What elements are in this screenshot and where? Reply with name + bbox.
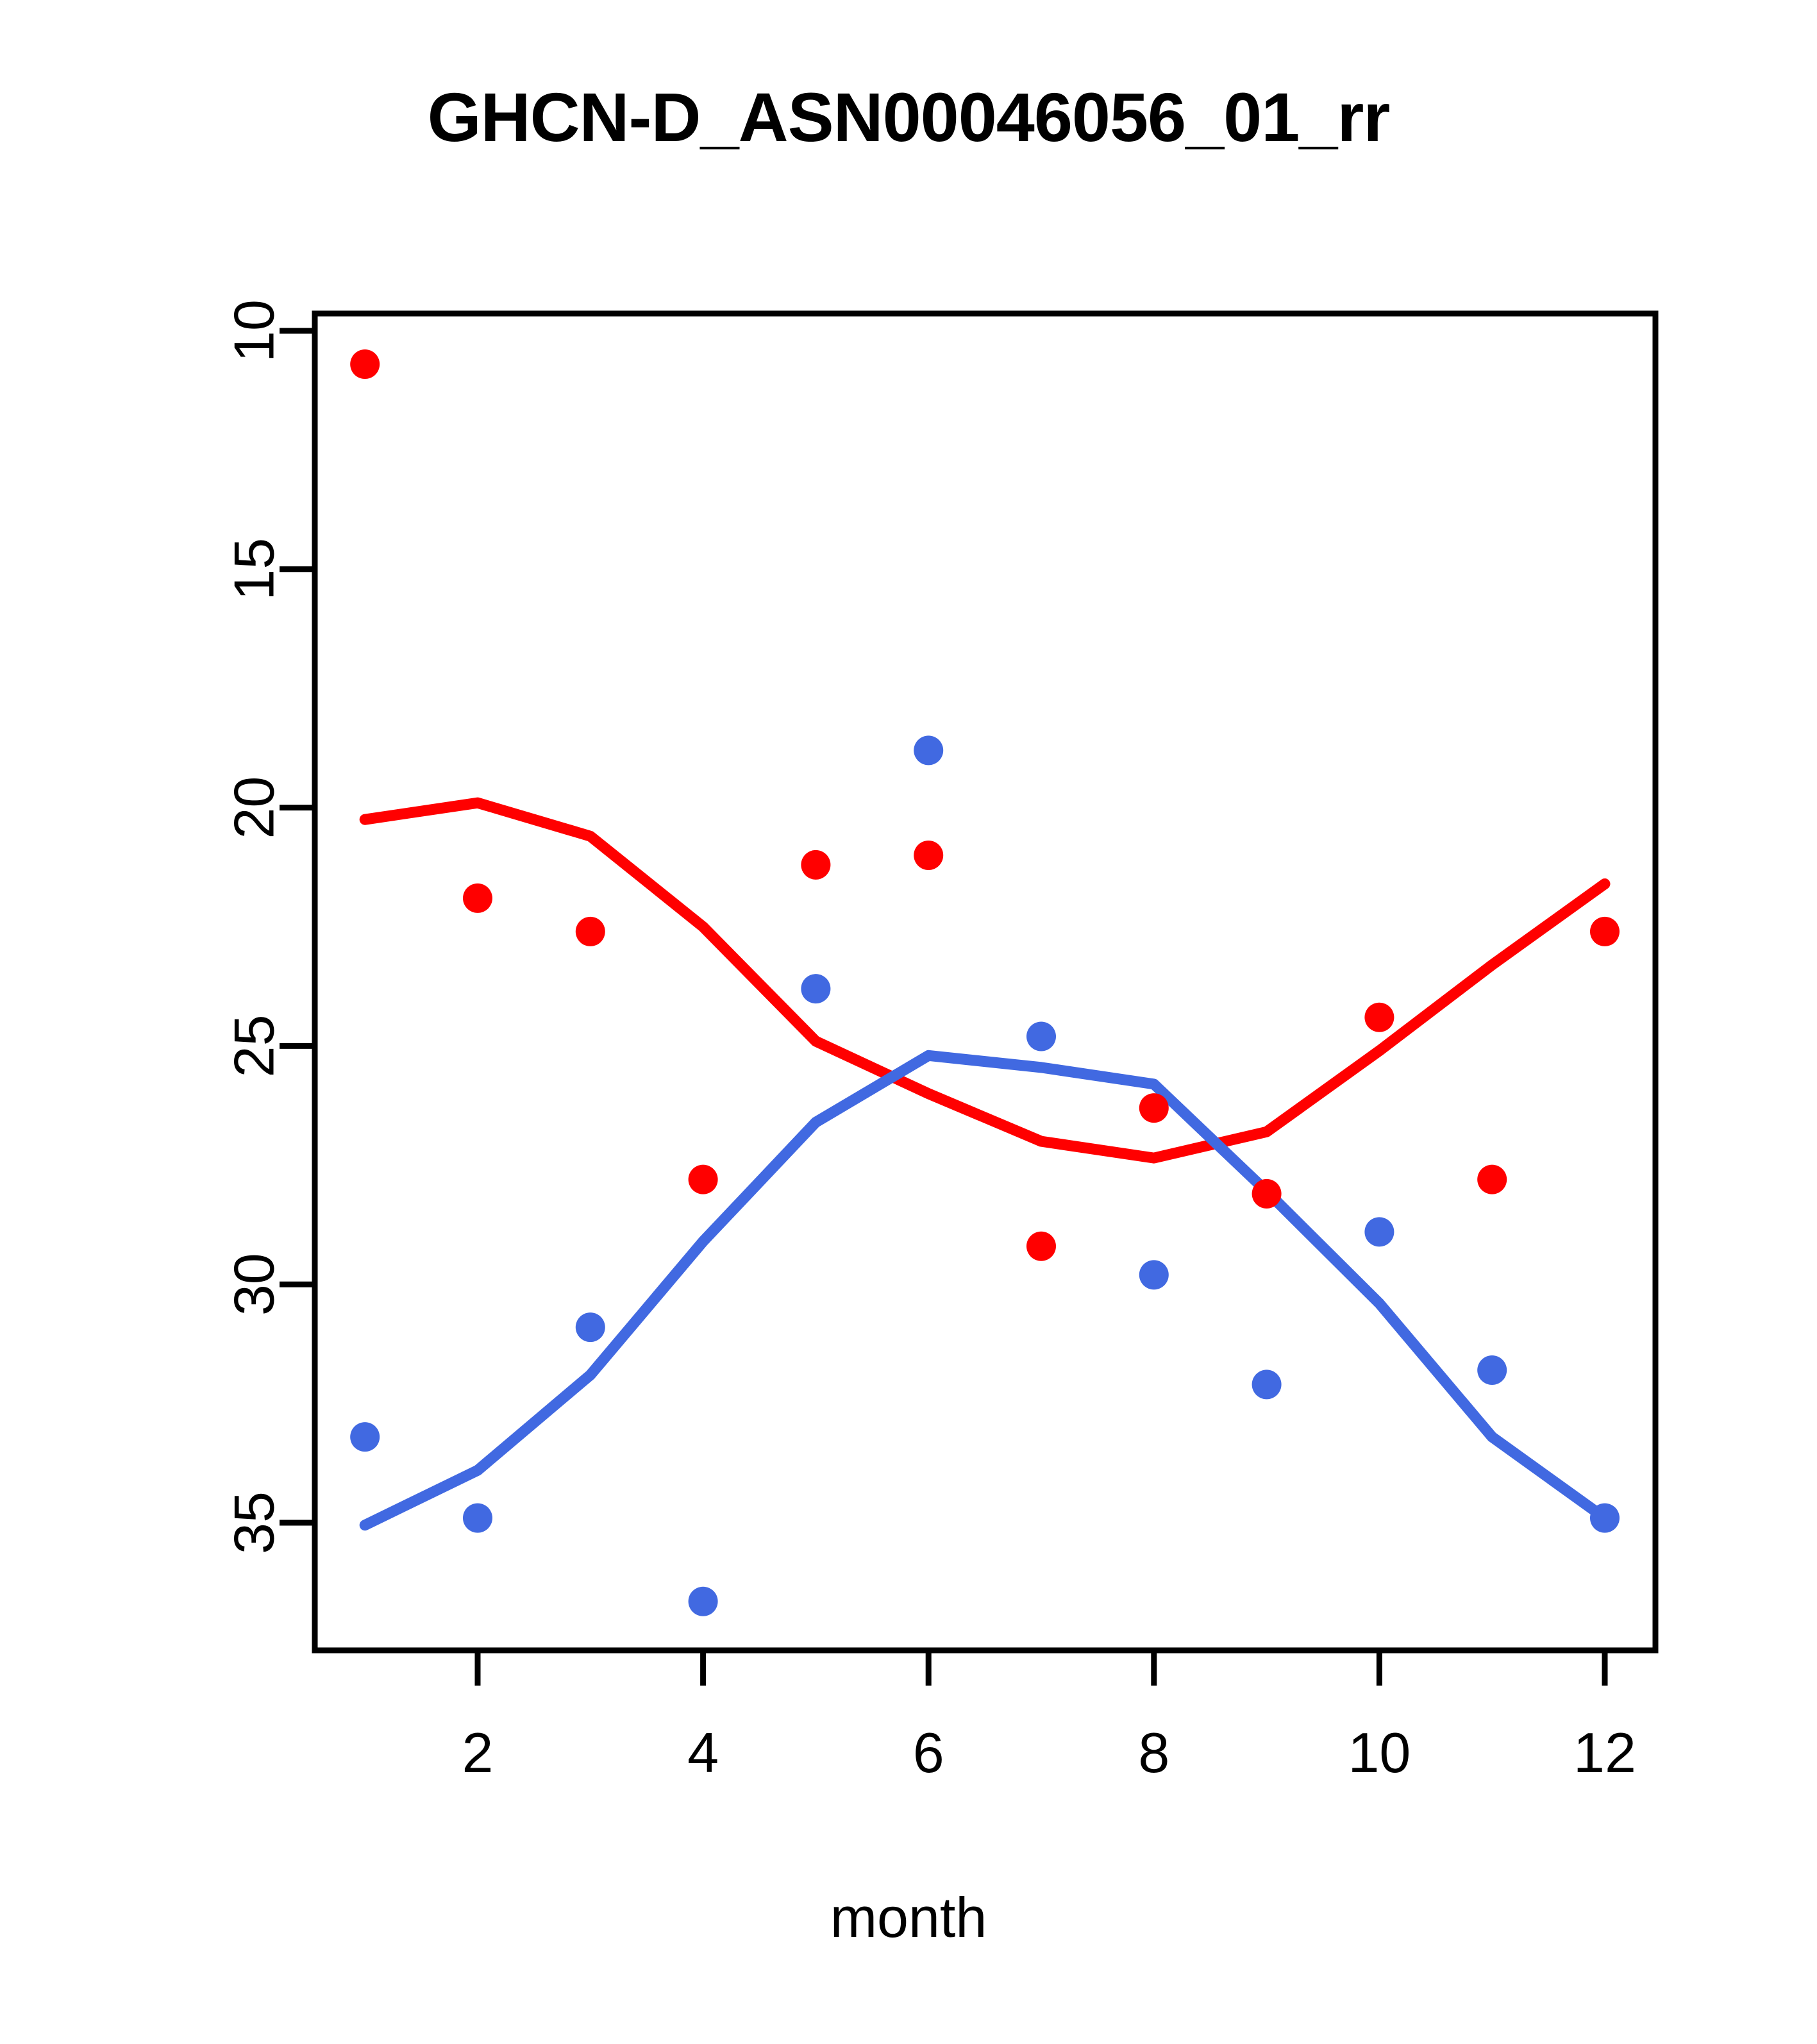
data-point [463, 884, 492, 913]
y-tick-label: 35 [222, 1491, 286, 1554]
y-tick-label: 20 [222, 776, 286, 839]
x-tick-label: 2 [462, 1721, 494, 1784]
x-axis-tick-labels: 24681012 [462, 1721, 1636, 1784]
blue-points [350, 735, 1620, 1616]
data-point [350, 349, 380, 379]
data-point [1026, 1232, 1056, 1261]
data-point [1139, 1260, 1169, 1289]
data-point [463, 1504, 492, 1533]
data-point [689, 1165, 718, 1194]
data-point [1477, 1165, 1507, 1194]
y-tick-label: 10 [222, 299, 286, 362]
data-point [350, 1422, 380, 1452]
y-axis-ticks [280, 331, 315, 1523]
y-tick-label: 25 [222, 1014, 286, 1077]
data-point [914, 735, 943, 765]
red-points [350, 349, 1620, 1261]
x-axis-title: month [0, 1885, 1817, 1950]
data-point [1590, 917, 1620, 946]
data-point [1252, 1370, 1282, 1399]
data-point [1364, 1217, 1394, 1246]
chart-plot-area: 353025201510 24681012 [0, 0, 1817, 2044]
series-lines [365, 803, 1605, 1525]
x-axis-ticks [478, 1650, 1605, 1686]
data-point [689, 1587, 718, 1616]
data-point [1477, 1355, 1507, 1385]
series-points [350, 349, 1620, 1616]
chart-figure: GHCN-D_ASN00046056_01_rr 353025201510 24… [0, 0, 1817, 2044]
x-tick-label: 12 [1573, 1721, 1636, 1784]
data-point [1590, 1504, 1620, 1533]
blue-line [365, 1055, 1605, 1525]
plot-frame [315, 314, 1655, 1650]
y-axis-tick-labels: 353025201510 [222, 299, 286, 1554]
x-tick-label: 4 [687, 1721, 719, 1784]
data-point [576, 917, 605, 946]
data-point [914, 841, 943, 870]
data-point [1026, 1022, 1056, 1051]
data-point [801, 974, 830, 1003]
data-point [576, 1312, 605, 1342]
y-tick-label: 15 [222, 538, 286, 601]
x-tick-label: 8 [1138, 1721, 1169, 1784]
red-line [365, 803, 1605, 1158]
x-tick-label: 6 [913, 1721, 944, 1784]
y-tick-label: 30 [222, 1253, 286, 1316]
data-point [801, 850, 830, 880]
data-point [1252, 1179, 1282, 1209]
x-tick-label: 10 [1348, 1721, 1411, 1784]
data-point [1139, 1093, 1169, 1123]
data-point [1364, 1003, 1394, 1032]
